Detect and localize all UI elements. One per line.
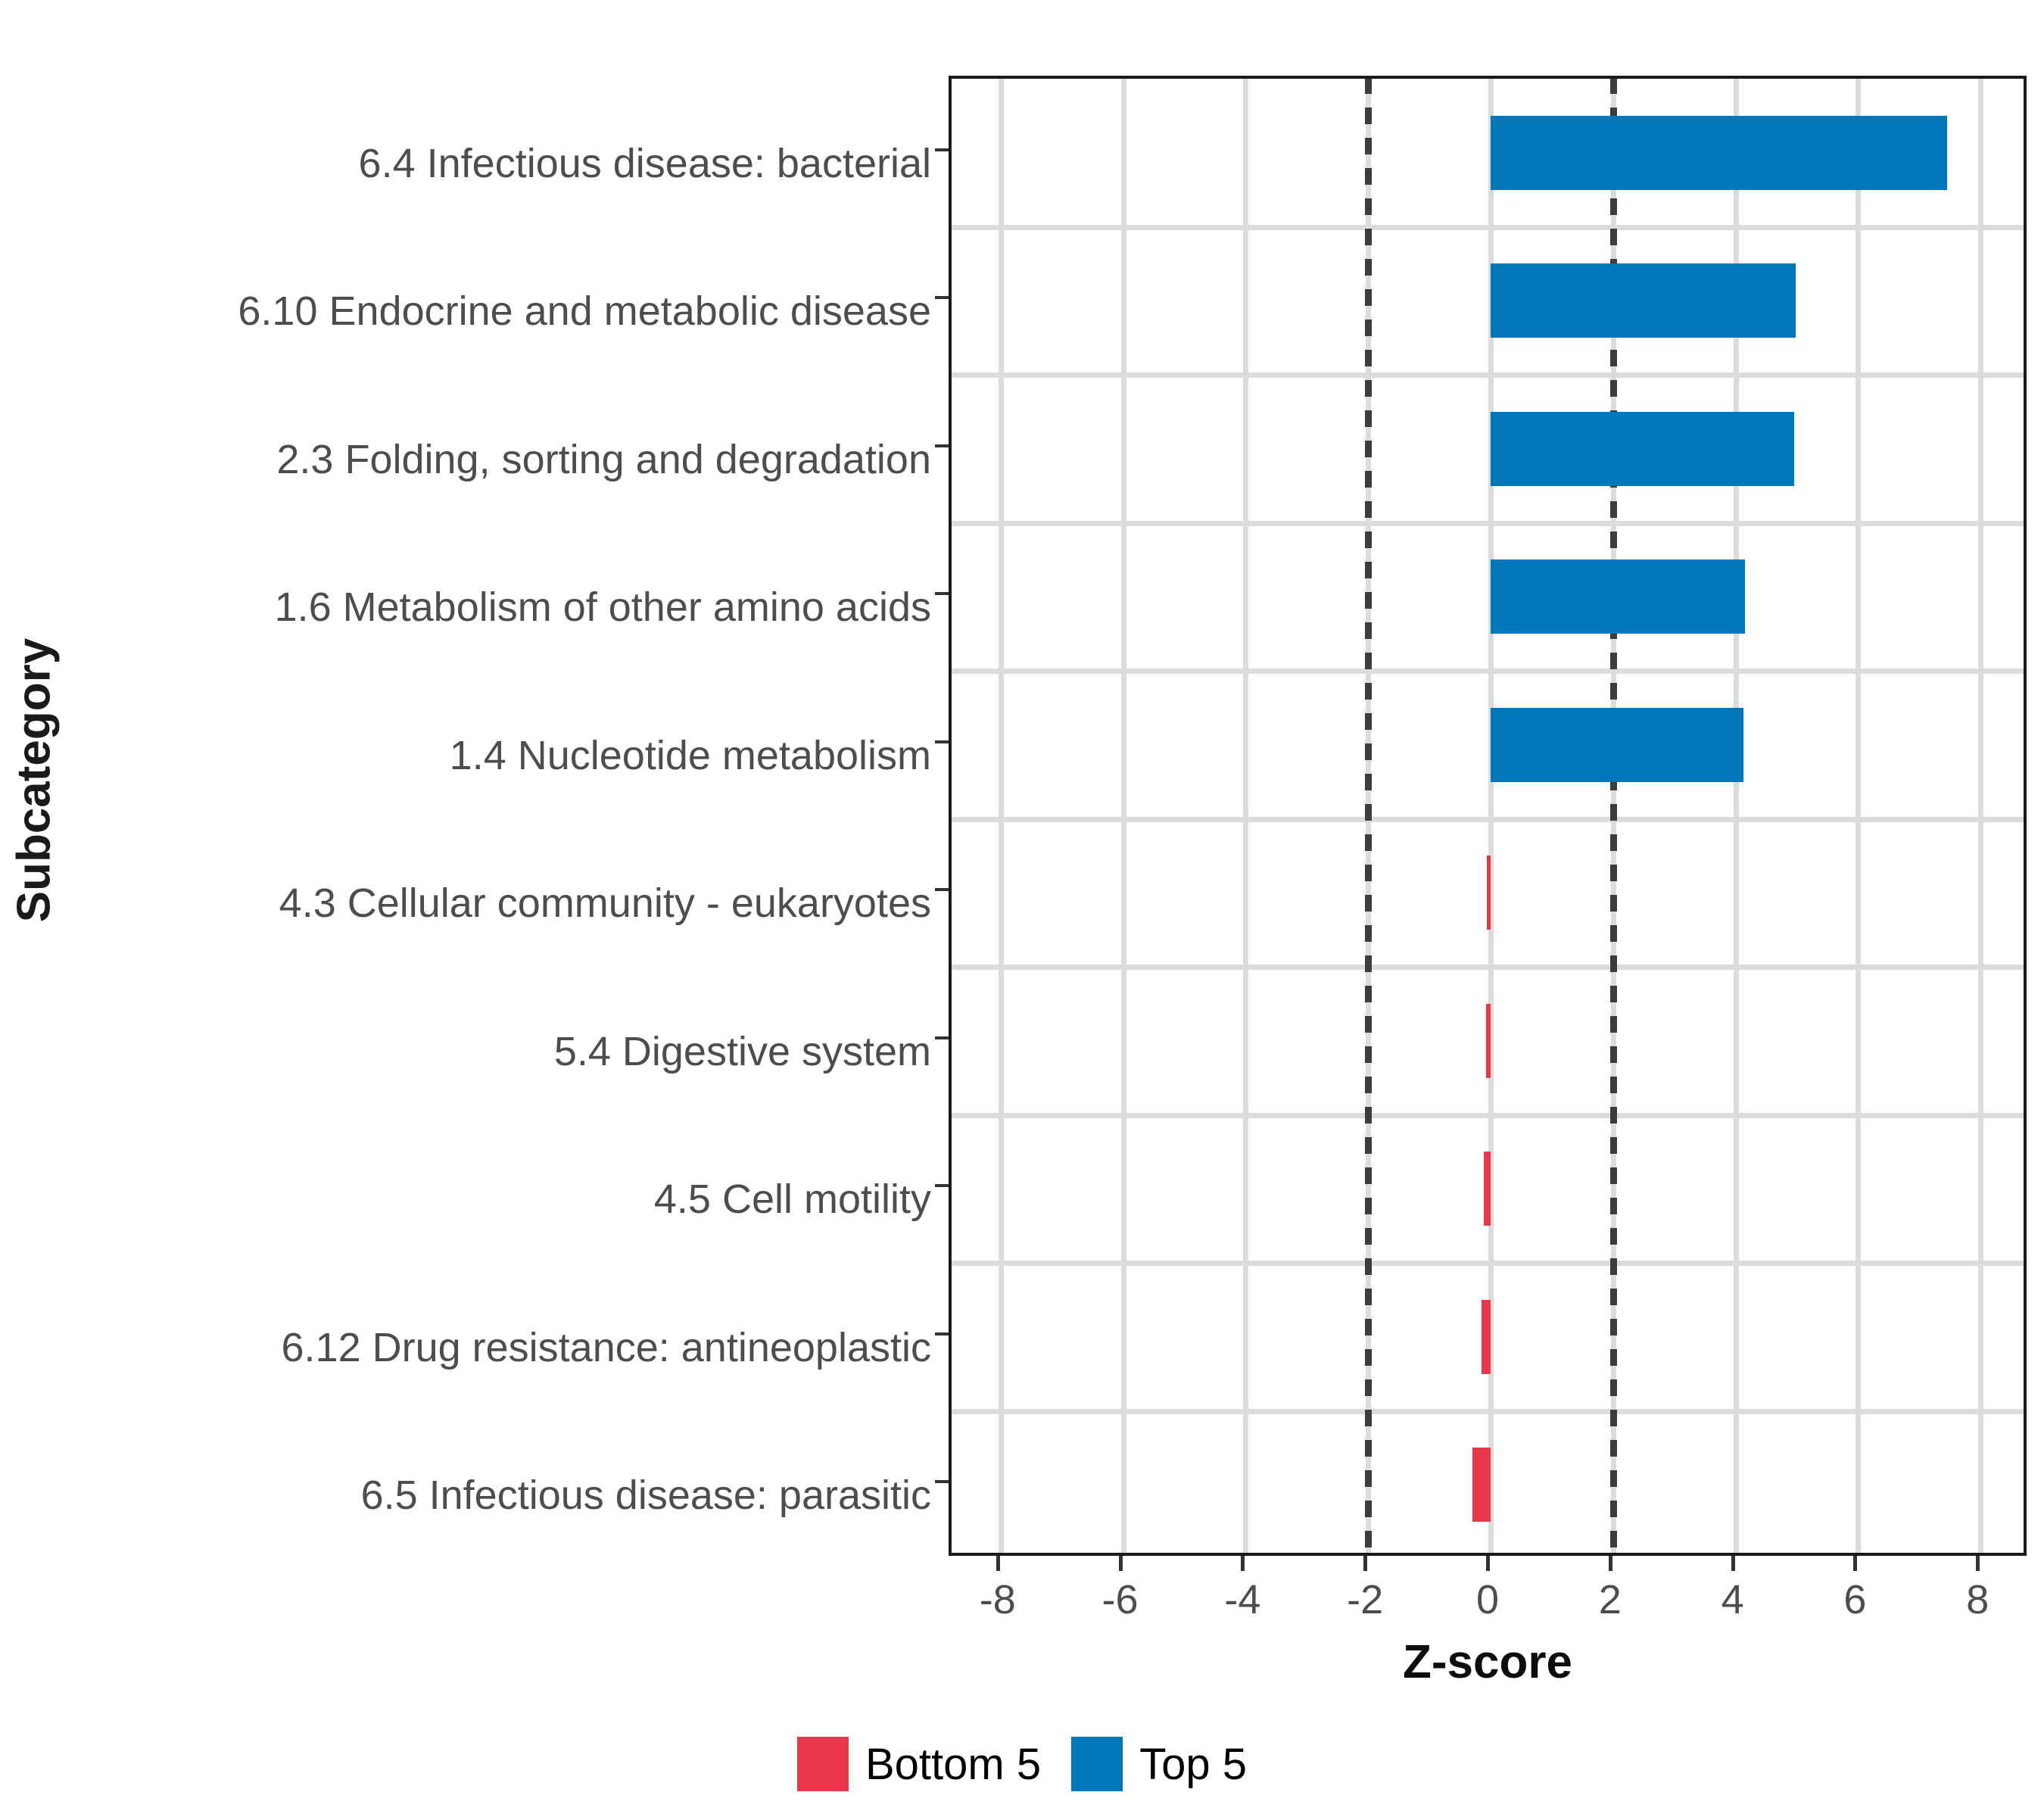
y-axis-tick-mark bbox=[935, 148, 949, 151]
x-axis-tick-label: -6 bbox=[1102, 1576, 1139, 1623]
legend-label: Bottom 5 bbox=[865, 1739, 1041, 1790]
x-axis-tick-label: 2 bbox=[1599, 1576, 1622, 1623]
y-axis-title: Subcategory bbox=[0, 0, 68, 1560]
bar[interactable] bbox=[1482, 1300, 1491, 1374]
y-axis-tick-mark bbox=[935, 296, 949, 299]
x-axis-tick-mark bbox=[1363, 1556, 1367, 1571]
threshold-line bbox=[1365, 77, 1372, 1554]
y-gridline bbox=[952, 521, 2024, 526]
y-axis-tick-mark bbox=[935, 1332, 949, 1335]
x-gridline bbox=[999, 79, 1004, 1553]
x-gridline bbox=[1121, 79, 1126, 1553]
bar[interactable] bbox=[1491, 708, 1743, 782]
bar[interactable] bbox=[1486, 1004, 1491, 1078]
plot-panel bbox=[949, 76, 2027, 1556]
x-axis-tick-label: -2 bbox=[1347, 1576, 1383, 1623]
x-axis-tick-label: 8 bbox=[1966, 1576, 1989, 1623]
x-gridline bbox=[1243, 79, 1248, 1553]
x-gridline bbox=[1855, 79, 1861, 1553]
x-axis-tick-mark bbox=[1486, 1556, 1490, 1571]
x-axis-tick-label: -8 bbox=[980, 1576, 1016, 1623]
legend-item[interactable]: Bottom 5 bbox=[797, 1737, 1041, 1791]
y-gridline bbox=[952, 225, 2024, 230]
x-axis-tick-marks bbox=[949, 1556, 2027, 1571]
x-axis-tick-mark bbox=[1609, 1556, 1612, 1571]
x-axis-tick-mark bbox=[1241, 1556, 1245, 1571]
x-axis-tick-mark bbox=[1976, 1556, 1980, 1571]
y-gridline bbox=[952, 965, 2024, 970]
x-gridline bbox=[1978, 79, 1983, 1553]
y-axis-tick-mark bbox=[935, 1036, 949, 1039]
legend: Bottom 5Top 5 bbox=[0, 1726, 2044, 1802]
figure-root: Subcategory 6.4 Infectious disease: bact… bbox=[0, 0, 2044, 1817]
legend-swatch bbox=[797, 1737, 849, 1791]
y-axis-tick-labels: 6.4 Infectious disease: bacterial6.10 En… bbox=[76, 76, 931, 1556]
bar[interactable] bbox=[1484, 1152, 1491, 1226]
bar[interactable] bbox=[1487, 856, 1491, 930]
x-axis-tick-label: 4 bbox=[1722, 1576, 1744, 1623]
y-axis-tick-mark bbox=[935, 1184, 949, 1187]
legend-item[interactable]: Top 5 bbox=[1071, 1737, 1247, 1791]
y-axis-tick-mark bbox=[935, 888, 949, 891]
y-gridline bbox=[952, 1409, 2024, 1414]
x-axis-tick-mark bbox=[1119, 1556, 1123, 1571]
bar[interactable] bbox=[1491, 116, 1947, 190]
y-axis-tick-mark bbox=[935, 592, 949, 595]
y-gridline bbox=[952, 372, 2024, 378]
bar[interactable] bbox=[1472, 1448, 1491, 1522]
y-axis-title-text: Subcategory bbox=[8, 637, 61, 922]
x-axis-title: Z-score bbox=[949, 1635, 2027, 1689]
y-axis-tick-mark bbox=[935, 444, 949, 447]
bar[interactable] bbox=[1491, 412, 1794, 486]
y-gridline bbox=[952, 1113, 2024, 1118]
x-axis-tick-label: -4 bbox=[1224, 1576, 1260, 1623]
x-axis-tick-label: 0 bbox=[1476, 1576, 1499, 1623]
x-axis-tick-mark bbox=[1853, 1556, 1857, 1571]
y-axis-tick-mark bbox=[935, 1480, 949, 1483]
bar[interactable] bbox=[1491, 263, 1796, 338]
y-gridline bbox=[952, 817, 2024, 822]
legend-swatch bbox=[1071, 1737, 1123, 1791]
x-axis-tick-mark bbox=[1731, 1556, 1735, 1571]
y-axis-tick-mark bbox=[935, 740, 949, 743]
x-axis-tick-mark bbox=[996, 1556, 1000, 1571]
y-gridline bbox=[952, 669, 2024, 674]
x-axis-tick-labels: -8-6-4-202468 bbox=[949, 1576, 2027, 1629]
x-axis-tick-label: 6 bbox=[1843, 1576, 1866, 1623]
y-gridline bbox=[952, 1261, 2024, 1266]
bar[interactable] bbox=[1491, 559, 1745, 634]
legend-label: Top 5 bbox=[1139, 1739, 1247, 1790]
